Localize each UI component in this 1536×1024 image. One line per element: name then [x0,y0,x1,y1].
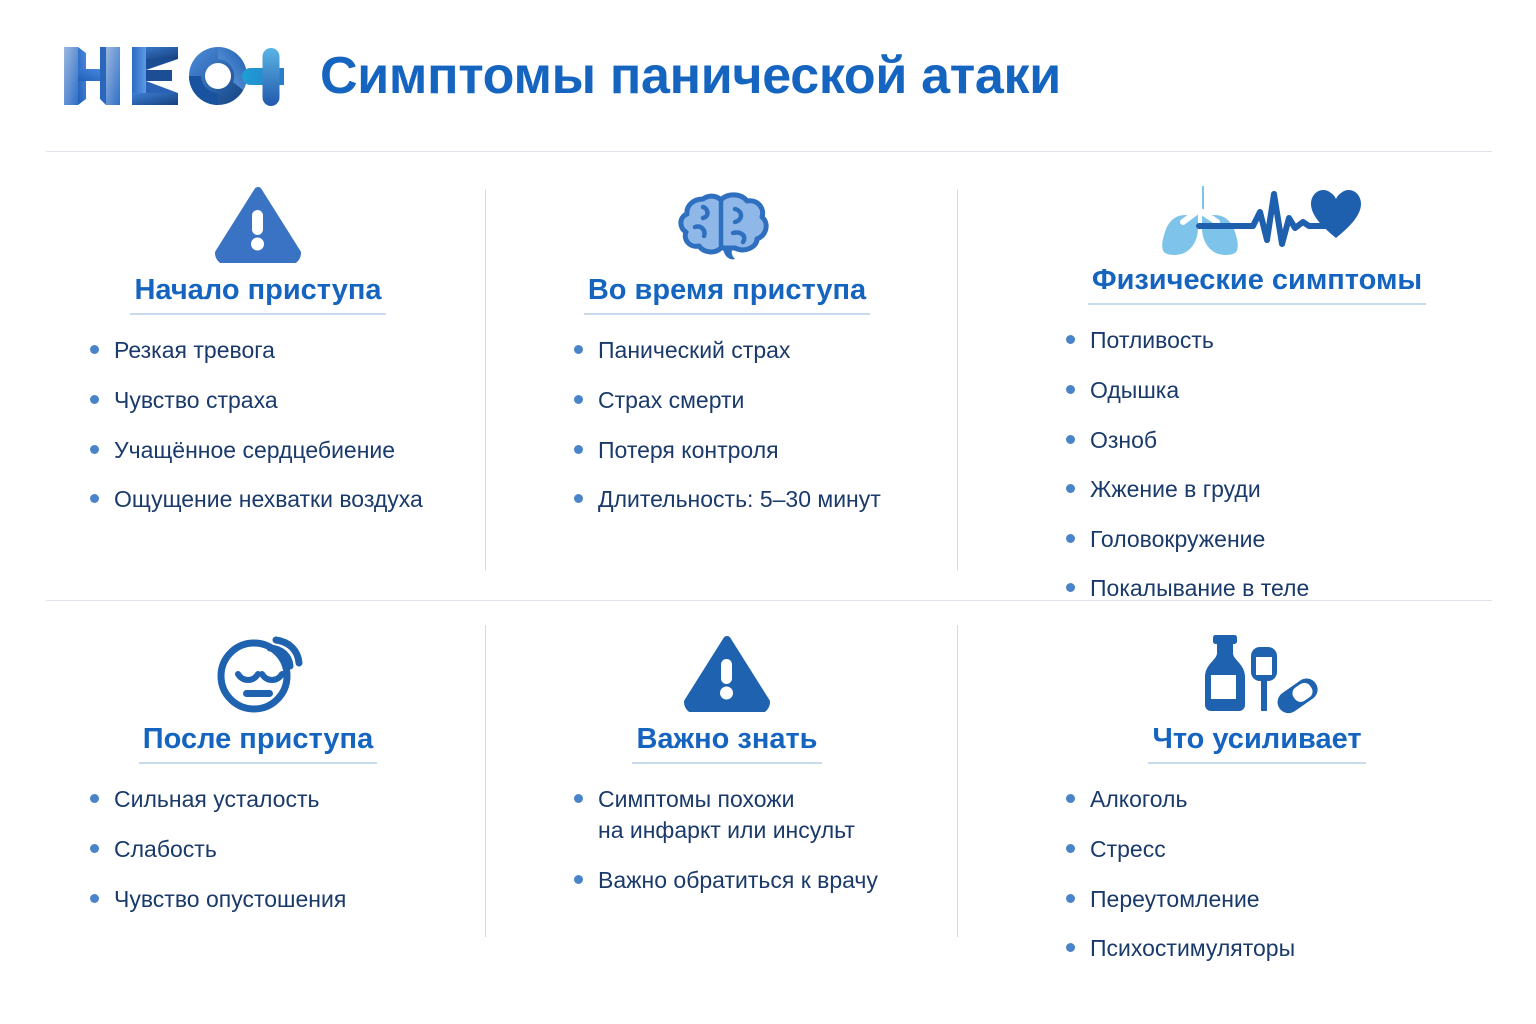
list-item: Одышка [1066,375,1309,406]
card-heading-block: После приступа [139,723,377,784]
list-item: Алкоголь [1066,784,1295,815]
list-item-label: Одышка [1090,375,1179,406]
neo-plus-logo [44,39,284,113]
bullet-dot-icon [1066,894,1075,903]
list-item-label: Длительность: 5–30 минут [598,484,881,515]
card-nachalo-pristupa: Начало приступа Резкая тревога Чувство с… [0,152,486,600]
symptom-list: Панический страх Страх смерти Потеря кон… [574,335,881,533]
tired-face-icon [210,631,306,717]
warning-triangle-icon [215,182,301,268]
heading-underline [584,313,870,315]
list-item-label: Страх смерти [598,385,744,416]
bullet-dot-icon [1066,385,1075,394]
cards-row-bottom: После приступа Сильная усталость Слабост… [0,601,1536,1024]
bullet-dot-icon [90,345,99,354]
heading-underline [632,762,821,764]
cards-grid: Начало приступа Резкая тревога Чувство с… [0,152,1536,1024]
bullet-dot-icon [90,494,99,503]
list-item-label: Важно обратиться к врачу [598,865,878,896]
list-item-label: Покалывание в теле [1090,573,1309,604]
bullet-dot-icon [90,395,99,404]
card-heading: Важно знать [632,723,821,762]
card-chto-usilivaet: Что усиливает Алкоголь Стресс Переутомле… [958,601,1536,1024]
card-heading: Во время приступа [584,274,870,313]
bullet-dot-icon [574,395,583,404]
card-heading-block: Во время приступа [584,274,870,335]
list-item: Резкая тревога [90,335,423,366]
bullet-dot-icon [1066,335,1075,344]
brain-icon [673,182,781,268]
page-title: Симптомы панической атаки [320,50,1061,102]
list-item: Потеря контроля [574,435,881,466]
bullet-dot-icon [1066,943,1075,952]
list-item-label: Стресс [1090,834,1166,865]
list-item: Слабость [90,834,346,865]
list-item-label: Чувство опустошения [114,884,346,915]
symptom-list: Алкоголь Стресс Переутомление Психостиму… [1066,784,1295,982]
symptom-list: Потливость Одышка Озноб Жжение в груди Г… [1066,325,1309,622]
card-heading: Физические симптомы [1088,264,1426,303]
list-item: Чувство страха [90,385,423,416]
list-item: Головокружение [1066,524,1309,555]
list-item-label: Ощущение нехватки воздуха [114,484,423,515]
list-item: Симптомы похожи на инфаркт или инсульт [574,784,878,845]
lungs-ecg-heart-icon [1141,182,1373,258]
symptom-list: Симптомы похожи на инфаркт или инсульт В… [574,784,878,914]
list-item-label: Симптомы похожи на инфаркт или инсульт [598,784,855,845]
card-fizicheskie-simptomy: Физические симптомы Потливость Одышка Оз… [958,152,1536,600]
list-item-label: Жжение в груди [1090,474,1261,505]
heading-underline [139,762,377,764]
list-item-label: Психостимуляторы [1090,933,1295,964]
bullet-dot-icon [1066,534,1075,543]
list-item-label: Переутомление [1090,884,1260,915]
bullet-dot-icon [90,794,99,803]
heading-underline [130,313,385,315]
bullet-dot-icon [1066,484,1075,493]
list-item: Сильная усталость [90,784,346,815]
list-item-label: Потливость [1090,325,1214,356]
list-item: Покалывание в теле [1066,573,1309,604]
bullet-dot-icon [574,875,583,884]
page-header: Симптомы панической атаки [0,0,1536,151]
list-item: Чувство опустошения [90,884,346,915]
heading-underline [1148,762,1365,764]
list-item: Страх смерти [574,385,881,416]
list-item: Учащённое сердцебиение [90,435,423,466]
list-item: Переутомление [1066,884,1295,915]
list-item: Жжение в груди [1066,474,1309,505]
list-item: Важно обратиться к врачу [574,865,878,896]
heading-underline [1088,303,1426,305]
list-item-label: Слабость [114,834,217,865]
bullet-dot-icon [90,445,99,454]
list-item-label: Учащённое сердцебиение [114,435,395,466]
bullet-dot-icon [90,894,99,903]
card-heading-block: Важно знать [632,723,821,784]
list-item: Панический страх [574,335,881,366]
list-item-label: Резкая тревога [114,335,275,366]
bottle-pills-icon [1193,631,1321,717]
list-item-label: Потеря контроля [598,435,779,466]
list-item: Потливость [1066,325,1309,356]
neo-plus-logo-icon [44,39,284,113]
bullet-dot-icon [1066,844,1075,853]
list-item-label: Алкоголь [1090,784,1187,815]
list-item-label: Головокружение [1090,524,1265,555]
card-heading: После приступа [139,723,377,762]
card-posle-pristupa: После приступа Сильная усталость Слабост… [0,601,486,1024]
card-heading: Что усиливает [1148,723,1365,762]
warning-triangle-icon [684,631,770,717]
list-item: Психостимуляторы [1066,933,1295,964]
card-heading: Начало приступа [130,274,385,313]
list-item: Ощущение нехватки воздуха [90,484,423,515]
list-item-label: Панический страх [598,335,790,366]
card-heading-block: Что усиливает [1148,723,1365,784]
bullet-dot-icon [574,445,583,454]
bullet-dot-icon [1066,435,1075,444]
list-item-label: Сильная усталость [114,784,320,815]
symptom-list: Резкая тревога Чувство страха Учащённое … [90,335,423,533]
list-item-label: Чувство страха [114,385,278,416]
list-item: Озноб [1066,425,1309,456]
cards-row-top: Начало приступа Резкая тревога Чувство с… [0,152,1536,600]
card-heading-block: Начало приступа [130,274,385,335]
bullet-dot-icon [574,494,583,503]
bullet-dot-icon [90,844,99,853]
bullet-dot-icon [1066,794,1075,803]
card-vazhno-znat: Важно знать Симптомы похожи на инфаркт и… [486,601,958,1024]
bullet-dot-icon [574,794,583,803]
bullet-dot-icon [1066,583,1075,592]
list-item: Длительность: 5–30 минут [574,484,881,515]
list-item: Стресс [1066,834,1295,865]
symptom-list: Сильная усталость Слабость Чувство опуст… [90,784,346,933]
card-vo-vremya-pristupa: Во время приступа Панический страх Страх… [486,152,958,600]
card-heading-block: Физические симптомы [1088,264,1426,325]
bullet-dot-icon [574,345,583,354]
list-item-label: Озноб [1090,425,1157,456]
